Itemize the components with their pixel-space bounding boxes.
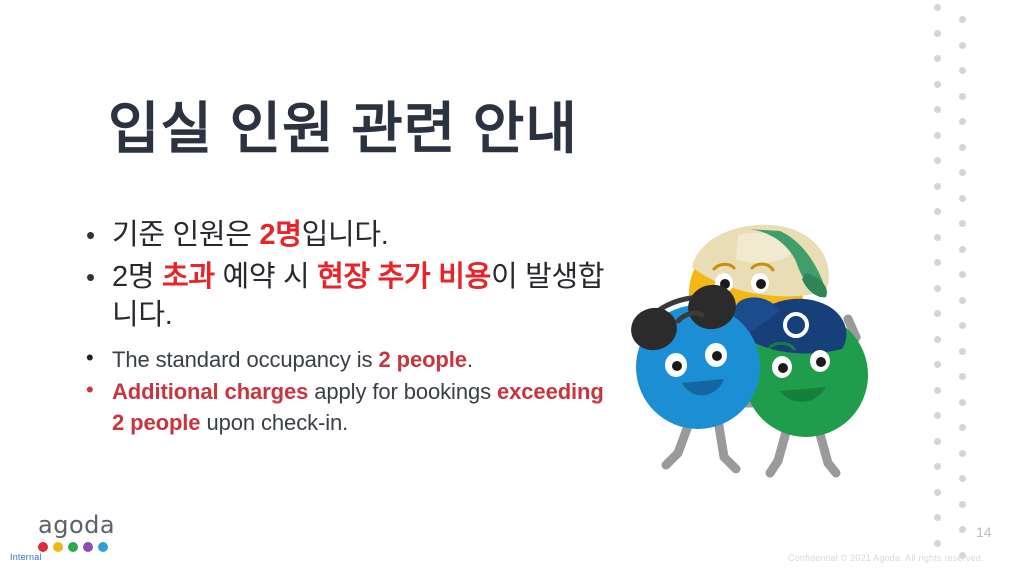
decorative-dot-column-left [932, 0, 946, 575]
english-bullet-item: •Additional charges apply for bookings e… [86, 376, 616, 438]
decorative-dot [934, 463, 941, 470]
plain-text: 기준 인원은 [112, 219, 259, 251]
page-title: 입실 인원 관련 안내 [108, 99, 578, 159]
english-bullet-item: •The standard occupancy is 2 people. [86, 344, 616, 375]
bullet-marker-icon: • [86, 216, 112, 248]
bullet-marker-icon: • [86, 376, 112, 401]
logo-dot [38, 542, 48, 552]
decorative-dot [959, 373, 966, 380]
bullet-marker-icon: • [86, 258, 112, 290]
korean-bullet-list: •기준 인원은 2명입니다.•2명 초과 예약 시 현장 추가 비용이 발생합니… [86, 216, 616, 338]
plain-text: apply for bookings [308, 379, 497, 404]
decorative-dot [934, 157, 941, 164]
logo-dot [83, 542, 93, 552]
korean-bullet-item: •기준 인원은 2명입니다. [86, 216, 616, 255]
english-bullet-text: Additional charges apply for bookings ex… [112, 376, 616, 438]
plain-text: The standard occupancy is [112, 347, 378, 372]
korean-bullet-text: 2명 초과 예약 시 현장 추가 비용이 발생합니다. [112, 258, 616, 335]
internal-classification-label: Internal [10, 552, 42, 562]
decorative-dot [934, 438, 941, 445]
plain-text: . [467, 347, 473, 372]
decorative-dot [959, 93, 966, 100]
bullet-marker-icon: • [86, 344, 112, 369]
mascot-illustration [620, 215, 885, 490]
decorative-dot [959, 271, 966, 278]
decorative-dot [959, 42, 966, 49]
decorative-dot [934, 183, 941, 190]
decorative-dot [934, 30, 941, 37]
decorative-dot [934, 489, 941, 496]
plain-text: 예약 시 [215, 261, 317, 293]
agoda-logo-dots [38, 542, 124, 552]
slide-canvas: 입실 인원 관련 안내 •기준 인원은 2명입니다.•2명 초과 예약 시 현장… [0, 0, 1024, 575]
decorative-dot [934, 336, 941, 343]
emphasis-text: 2 people [378, 347, 466, 372]
plain-text: 2명 [112, 261, 162, 293]
page-number: 14 [976, 524, 992, 540]
decorative-dot [934, 540, 941, 547]
plain-text: 입니다. [302, 219, 389, 251]
agoda-logo: agoda [38, 513, 124, 552]
decorative-dot-column-right [957, 0, 971, 575]
decorative-dot [959, 526, 966, 533]
emphasis-text: Additional charges [112, 379, 308, 404]
decorative-dot [934, 310, 941, 317]
decorative-dot [934, 81, 941, 88]
emphasis-text: 현장 추가 비용 [317, 261, 491, 293]
decorative-dot [959, 348, 966, 355]
decorative-dot [934, 387, 941, 394]
decorative-dot [959, 399, 966, 406]
logo-dot [98, 542, 108, 552]
decorative-dot [959, 169, 966, 176]
emphasis-text: 초과 [162, 261, 215, 293]
decorative-dot [959, 322, 966, 329]
decorative-dot [959, 16, 966, 23]
decorative-dot [959, 246, 966, 253]
decorative-dot [934, 361, 941, 368]
emphasis-text: 2명 [259, 219, 301, 251]
korean-bullet-text: 기준 인원은 2명입니다. [112, 216, 616, 255]
decorative-dot [934, 234, 941, 241]
korean-bullet-item: •2명 초과 예약 시 현장 추가 비용이 발생합니다. [86, 258, 616, 335]
decorative-dot [934, 514, 941, 521]
decorative-dot [959, 450, 966, 457]
decorative-dot [959, 67, 966, 74]
agoda-logo-text: agoda [38, 513, 124, 537]
decorative-dot [934, 259, 941, 266]
decorative-dot [934, 4, 941, 11]
decorative-dot [959, 118, 966, 125]
logo-dot [68, 542, 78, 552]
plain-text: upon check-in. [200, 410, 348, 435]
decorative-dot [959, 144, 966, 151]
english-bullet-list: •The standard occupancy is 2 people.•Add… [86, 344, 616, 440]
decorative-dot [959, 501, 966, 508]
decorative-dot [959, 220, 966, 227]
confidential-notice: Confidential © 2021 Agoda. All rights re… [788, 553, 984, 563]
decorative-dot [959, 424, 966, 431]
decorative-dot [934, 106, 941, 113]
decorative-dot [934, 412, 941, 419]
decorative-dot [934, 208, 941, 215]
decorative-dot [959, 195, 966, 202]
decorative-dot [934, 55, 941, 62]
decorative-dot [959, 297, 966, 304]
logo-dot [53, 542, 63, 552]
english-bullet-text: The standard occupancy is 2 people. [112, 344, 616, 375]
decorative-dot [934, 285, 941, 292]
decorative-dot [959, 475, 966, 482]
decorative-dot [934, 132, 941, 139]
